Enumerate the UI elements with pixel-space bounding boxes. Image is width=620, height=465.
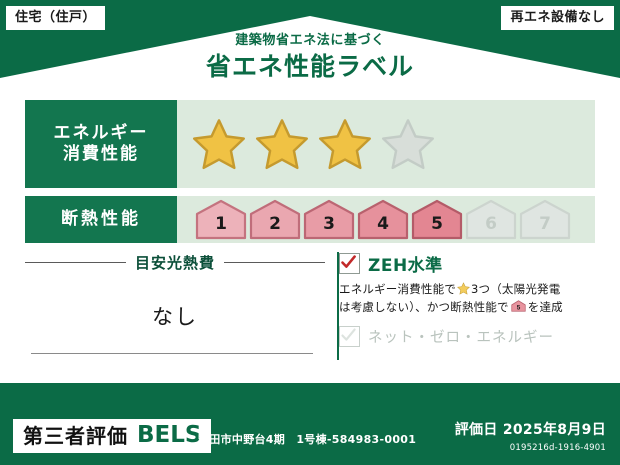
net-zero-energy-row: ネット・ゼロ・エネルギー (339, 326, 595, 347)
third-party-eval-label: 第三者評価 (23, 426, 128, 446)
net-zero-energy-label: ネット・ゼロ・エネルギー (368, 326, 554, 347)
evaluation-date-label: 評価日 (455, 422, 498, 438)
house-level-icon-filled: 5 (411, 199, 463, 240)
house-level-icon-inline: 5 (511, 300, 526, 312)
evaluation-date-value: 2025年8月9日 (503, 422, 606, 438)
svg-text:5: 5 (516, 304, 520, 311)
energy-cost-heading: 目安光熱費 (25, 252, 325, 273)
energy-performance-label: 住宅（住戸） 再エネ設備なし 建築物省エネ法に基づく 省エネ性能ラベル エネルギ… (0, 0, 620, 465)
star-icon-filled (254, 117, 310, 171)
energy-cost-underline (31, 353, 313, 354)
energy-cost-section: 目安光熱費 なし (25, 250, 325, 369)
insulation-performance-value: 1234567 (177, 196, 595, 243)
zeh-title: ZEH水準 (368, 251, 443, 276)
zeh-section: ZEH水準 エネルギー消費性能で3つ（太陽光発電 は考慮しない）、かつ断熱性能で… (325, 250, 595, 369)
zeh-desc-part2: 3つ（太陽光発電 (471, 282, 560, 296)
star-icon-inline (457, 282, 470, 295)
house-level-scale: 1234567 (191, 199, 571, 240)
evaluation-date: 評価日 2025年8月9日 (455, 419, 606, 439)
evaluation-id: 0195216d-1916-4901 (510, 443, 606, 453)
insulation-label: 断熱性能 (61, 209, 141, 230)
rule-right (224, 262, 325, 263)
check-icon[interactable] (339, 253, 360, 274)
house-level-icon-filled: 1 (195, 199, 247, 240)
house-level-icon-empty: 6 (465, 199, 517, 240)
star-icon-empty (380, 117, 436, 171)
energy-cost-value: なし (25, 301, 325, 331)
card-lower-area: 目安光熱費 なし ZEH水準 エネルギー消費性能で3つ（太 (25, 250, 595, 369)
label-card: エネルギー 消費性能 断熱性能 1234567 目安光熱費 (13, 92, 607, 375)
zeh-desc-part3: は考慮しない）、かつ断熱性能で (339, 300, 509, 314)
house-level-icon-empty: 7 (519, 199, 571, 240)
star-icon-filled (317, 117, 373, 171)
property-address: 野田市中野台4期 1号棟-584983-0001 (198, 431, 416, 447)
house-level-icon-filled: 2 (249, 199, 301, 240)
star-icon-filled (191, 117, 247, 171)
rule-left (25, 262, 126, 263)
energy-label-line2: 消費性能 (63, 144, 139, 165)
star-rating (191, 117, 436, 171)
zeh-desc-part1: エネルギー消費性能で (339, 282, 456, 296)
check-icon-net-zero[interactable] (339, 326, 360, 347)
bels-logo-text: BELS (137, 424, 201, 447)
row-energy-performance: エネルギー 消費性能 (25, 100, 595, 188)
energy-label-line1: エネルギー (54, 123, 149, 144)
bels-badge: 第三者評価 BELS (13, 419, 211, 453)
zeh-description: エネルギー消費性能で3つ（太陽光発電 は考慮しない）、かつ断熱性能で5を達成 (339, 281, 595, 317)
energy-cost-heading-text: 目安光熱費 (135, 252, 215, 273)
zeh-desc-part4: を達成 (528, 300, 563, 314)
tag-renewable-equipment: 再エネ設備なし (501, 6, 614, 30)
energy-performance-label-box: エネルギー 消費性能 (25, 100, 177, 188)
zeh-heading: ZEH水準 (339, 251, 595, 276)
row-insulation-performance: 断熱性能 1234567 (25, 196, 595, 243)
house-level-icon-filled: 3 (303, 199, 355, 240)
tag-building-type: 住宅（住戸） (6, 6, 105, 30)
label-footer: 第三者評価 BELS 野田市中野台4期 1号棟-584983-0001 評価日 … (0, 383, 620, 465)
energy-performance-value (177, 100, 595, 188)
house-level-icon-filled: 4 (357, 199, 409, 240)
insulation-performance-label-box: 断熱性能 (25, 196, 177, 243)
